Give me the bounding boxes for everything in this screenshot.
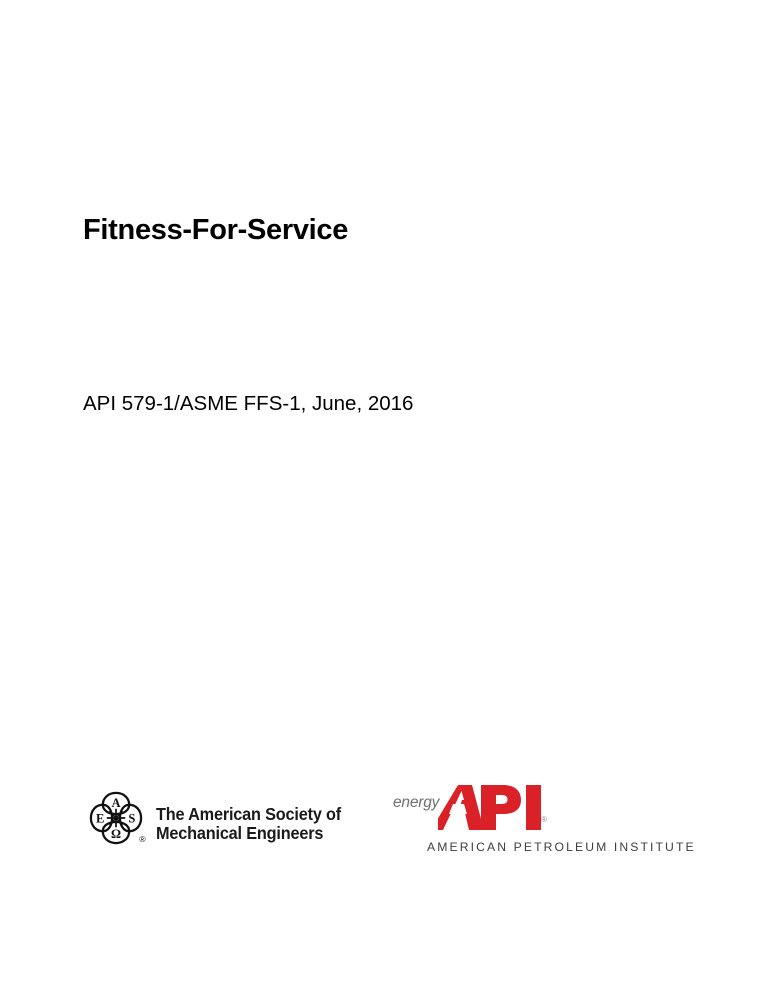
api-organization-name: AMERICAN PETROLEUM INSTITUTE: [427, 840, 696, 854]
standard-designation: API 579-1/ASME FFS-1, June, 2016: [83, 392, 413, 416]
emblem-cross-icon: [107, 809, 125, 827]
asme-name-line-2: Mechanical Engineers: [156, 824, 341, 843]
logo-band: A E S Ω ® The American Society of Mechan…: [0, 780, 768, 880]
asme-name-line-1: The American Society of: [156, 805, 341, 824]
document-cover-page: Fitness-For-Service API 579-1/ASME FFS-1…: [0, 0, 768, 994]
api-energy-tagline: energy: [393, 794, 439, 812]
api-mark-row: energy ®: [393, 785, 653, 833]
emblem-letter-e: E: [96, 812, 104, 826]
asme-wordmark: The American Society of Mechanical Engin…: [156, 805, 341, 843]
asme-registered-icon: ®: [139, 834, 146, 844]
emblem-letter-a: A: [111, 796, 120, 810]
api-registered-icon: ®: [541, 815, 547, 824]
emblem-letter-omega: Ω: [111, 827, 121, 841]
asme-cloverleaf-emblem: A E S Ω ®: [83, 785, 149, 851]
emblem-letter-s: S: [128, 812, 135, 826]
api-logo: energy ® A: [393, 785, 653, 833]
api-wordmark-icon: [438, 785, 548, 830]
asme-logo: A E S Ω ® The American Society of Mechan…: [83, 785, 355, 851]
page-title: Fitness-For-Service: [83, 214, 348, 247]
